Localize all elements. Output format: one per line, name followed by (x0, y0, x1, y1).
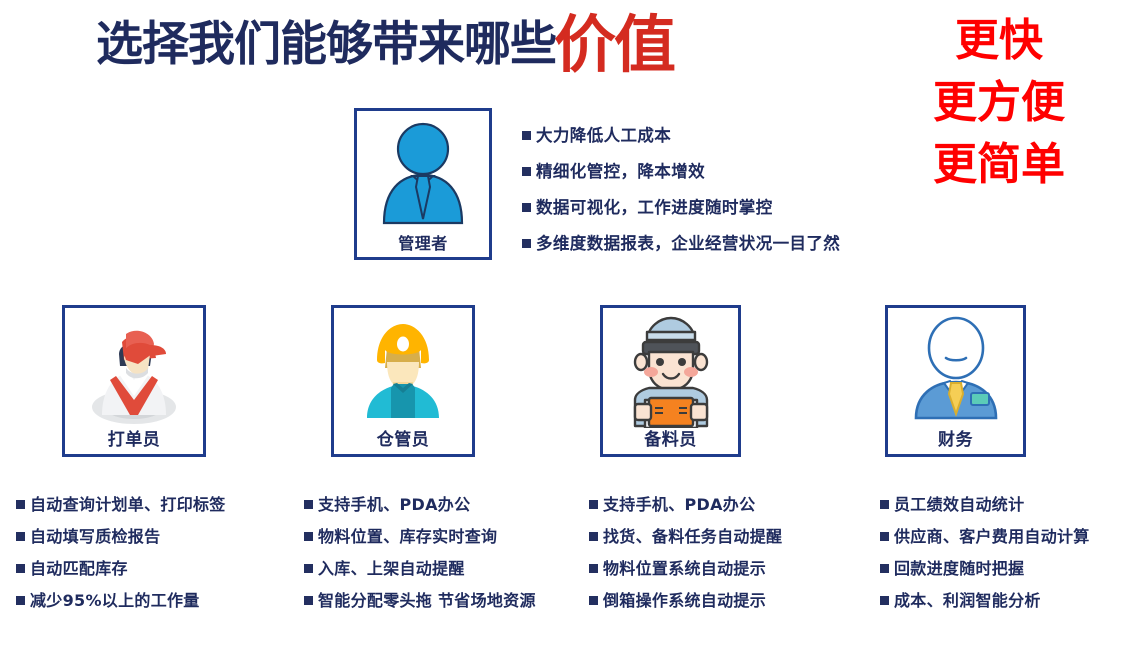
bullet-text: 找货、备料任务自动提醒 (603, 521, 782, 553)
order-picker-avatar-icon (65, 308, 203, 431)
bullet-item: 自动匹配库存 (16, 553, 226, 585)
bullet-item: 成本、利润智能分析 (880, 585, 1090, 617)
slogan-item: 更快 (874, 10, 1124, 72)
square-bullet-icon (16, 564, 25, 573)
square-bullet-icon (16, 500, 25, 509)
material-preparer-avatar-icon (603, 308, 738, 431)
square-bullet-icon (522, 167, 531, 176)
square-bullet-icon (589, 500, 598, 509)
bullet-text: 大力降低人工成本 (536, 118, 671, 154)
square-bullet-icon (589, 564, 598, 573)
page-title-main: 选择我们能够带来哪些 (96, 21, 556, 68)
square-bullet-icon (522, 131, 531, 140)
square-bullet-icon (304, 564, 313, 573)
persona-card-keeper[interactable]: 仓管员 (331, 305, 475, 457)
bullet-text: 回款进度随时把握 (894, 553, 1024, 585)
bullet-text: 精细化管控，降本增效 (536, 154, 705, 190)
square-bullet-icon (589, 596, 598, 605)
bullet-item: 员工绩效自动统计 (880, 489, 1090, 521)
square-bullet-icon (880, 564, 889, 573)
square-bullet-icon (304, 500, 313, 509)
bullet-text: 减少95%以上的工作量 (30, 585, 200, 617)
bullet-item: 倒箱操作系统自动提示 (589, 585, 782, 617)
persona-card-manager[interactable]: 管理者 (354, 108, 492, 260)
page-title: 选择我们能够带来哪些价值 (96, 8, 674, 70)
finance-avatar-icon (888, 308, 1023, 431)
bullet-item: 物料位置、库存实时查询 (304, 521, 536, 553)
bullet-text: 智能分配零头拖 节省场地资源 (318, 585, 536, 617)
bullet-item: 自动查询计划单、打印标签 (16, 489, 226, 521)
slogan-item: 更简单 (874, 134, 1124, 196)
square-bullet-icon (16, 596, 25, 605)
bullet-item: 精细化管控，降本增效 (522, 154, 840, 190)
bullet-text: 入库、上架自动提醒 (318, 553, 465, 585)
manager-avatar-icon (357, 111, 489, 235)
slogan-item: 更方便 (874, 72, 1124, 134)
bullet-text: 供应商、客户费用自动计算 (894, 521, 1090, 553)
bullet-text: 员工绩效自动统计 (894, 489, 1024, 521)
bullet-item: 物料位置系统自动提示 (589, 553, 782, 585)
bullet-item: 数据可视化，工作进度随时掌控 (522, 190, 840, 226)
bullet-text: 成本、利润智能分析 (894, 585, 1041, 617)
picker-bullet-list: 自动查询计划单、打印标签 自动填写质检报告 自动匹配库存 减少95%以上的工作量 (16, 489, 226, 617)
bullet-item: 减少95%以上的工作量 (16, 585, 226, 617)
warehouse-keeper-avatar-icon (334, 308, 472, 431)
bullet-item: 找货、备料任务自动提醒 (589, 521, 782, 553)
bullet-text: 自动匹配库存 (30, 553, 128, 585)
bullet-text: 自动填写质检报告 (30, 521, 160, 553)
bullet-text: 数据可视化，工作进度随时掌控 (536, 190, 773, 226)
page-title-accent: 价值 (554, 14, 674, 76)
square-bullet-icon (522, 239, 531, 248)
persona-card-picker[interactable]: 打单员 (62, 305, 206, 457)
bullet-text: 支持手机、PDA办公 (603, 489, 755, 521)
persona-label: 管理者 (398, 235, 448, 253)
manager-bullet-list: 大力降低人工成本 精细化管控，降本增效 数据可视化，工作进度随时掌控 多维度数据… (522, 118, 840, 262)
finance-bullet-list: 员工绩效自动统计 供应商、客户费用自动计算 回款进度随时把握 成本、利润智能分析 (880, 489, 1090, 617)
square-bullet-icon (304, 532, 313, 541)
bullet-item: 智能分配零头拖 节省场地资源 (304, 585, 536, 617)
bullet-text: 支持手机、PDA办公 (318, 489, 470, 521)
persona-label: 财务 (938, 431, 973, 450)
square-bullet-icon (589, 532, 598, 541)
square-bullet-icon (522, 203, 531, 212)
persona-label: 打单员 (108, 431, 161, 450)
bullet-text: 自动查询计划单、打印标签 (30, 489, 226, 521)
square-bullet-icon (880, 500, 889, 509)
bullet-text: 物料位置、库存实时查询 (318, 521, 497, 553)
bullet-item: 支持手机、PDA办公 (589, 489, 782, 521)
bullet-text: 多维度数据报表，企业经营状况一目了然 (536, 226, 840, 262)
persona-label: 仓管员 (377, 431, 430, 450)
slogan-list: 更快 更方便 更简单 (874, 10, 1124, 196)
square-bullet-icon (880, 532, 889, 541)
square-bullet-icon (16, 532, 25, 541)
bullet-item: 支持手机、PDA办公 (304, 489, 536, 521)
bullet-item: 回款进度随时把握 (880, 553, 1090, 585)
preparer-bullet-list: 支持手机、PDA办公 找货、备料任务自动提醒 物料位置系统自动提示 倒箱操作系统… (589, 489, 782, 617)
bullet-item: 多维度数据报表，企业经营状况一目了然 (522, 226, 840, 262)
square-bullet-icon (880, 596, 889, 605)
persona-card-preparer[interactable]: 备料员 (600, 305, 741, 457)
bullet-item: 供应商、客户费用自动计算 (880, 521, 1090, 553)
persona-card-finance[interactable]: 财务 (885, 305, 1026, 457)
persona-label: 备料员 (644, 431, 697, 450)
bullet-text: 物料位置系统自动提示 (603, 553, 766, 585)
bullet-item: 自动填写质检报告 (16, 521, 226, 553)
keeper-bullet-list: 支持手机、PDA办公 物料位置、库存实时查询 入库、上架自动提醒 智能分配零头拖… (304, 489, 536, 617)
square-bullet-icon (304, 596, 313, 605)
bullet-item: 大力降低人工成本 (522, 118, 840, 154)
bullet-item: 入库、上架自动提醒 (304, 553, 536, 585)
bullet-text: 倒箱操作系统自动提示 (603, 585, 766, 617)
